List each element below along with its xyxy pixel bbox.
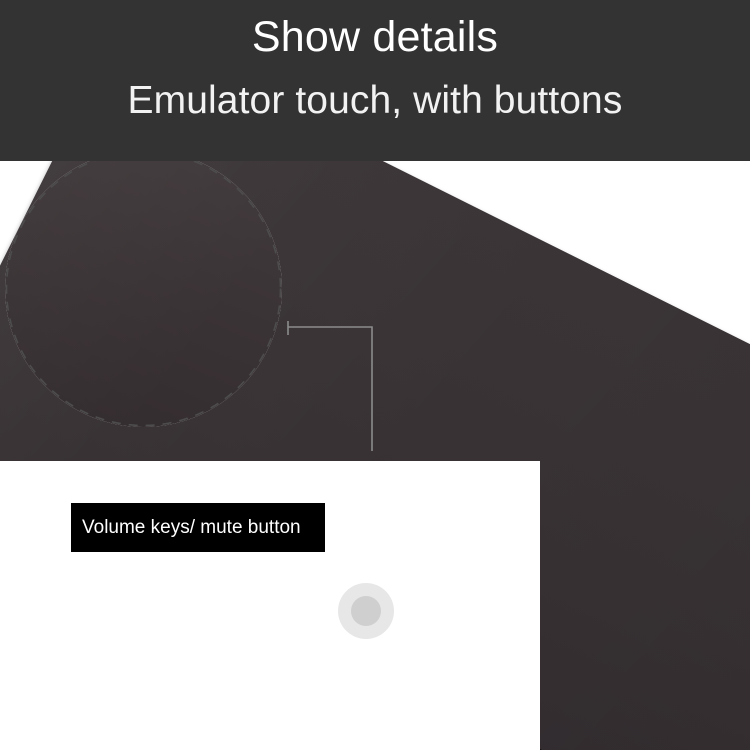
touch-point-indicator — [338, 583, 394, 639]
product-photo-stage: Volume keys/ mute button — [0, 161, 750, 750]
page-subtitle: Emulator touch, with buttons — [0, 78, 750, 124]
callout-caption-text: Volume keys/ mute button — [71, 517, 301, 539]
zoomed-side-rail — [5, 161, 282, 427]
magnifier-callout — [5, 161, 282, 427]
header-banner: Show details Emulator touch, with button… — [0, 0, 750, 161]
magnifier-content — [5, 161, 282, 427]
page-title: Show details — [0, 12, 750, 62]
product-detail-image: Show details Emulator touch, with button… — [0, 0, 750, 750]
callout-caption-chip: Volume keys/ mute button — [71, 503, 325, 552]
